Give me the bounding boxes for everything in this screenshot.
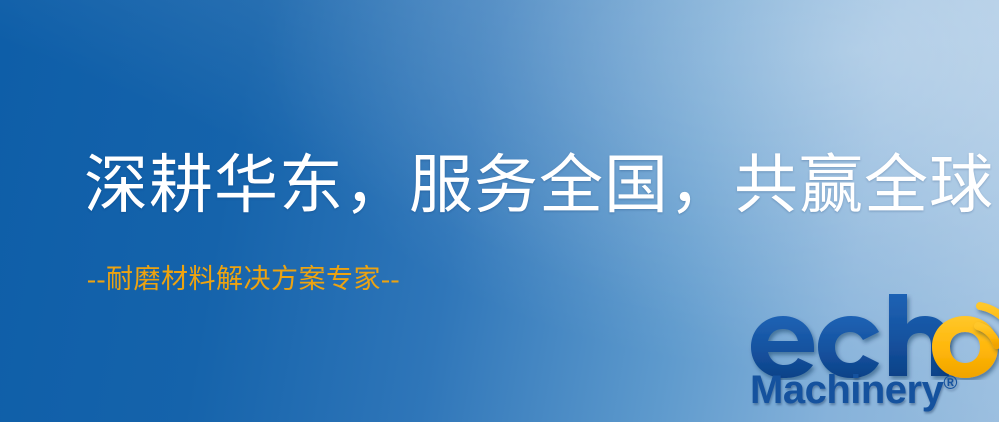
company-logo[interactable]: Machinery® xyxy=(746,294,999,422)
hero-banner: 深耕华东，服务全国，共赢全球 --耐磨材料解决方案专家-- xyxy=(0,0,999,422)
page-title: 深耕华东，服务全国，共赢全球 xyxy=(84,152,994,219)
page-subtitle: --耐磨材料解决方案专家-- xyxy=(87,265,400,295)
logo-subtext: Machinery® xyxy=(750,368,999,416)
logo-machinery-text: Machinery xyxy=(750,368,943,412)
registered-trademark-icon: ® xyxy=(943,373,957,394)
